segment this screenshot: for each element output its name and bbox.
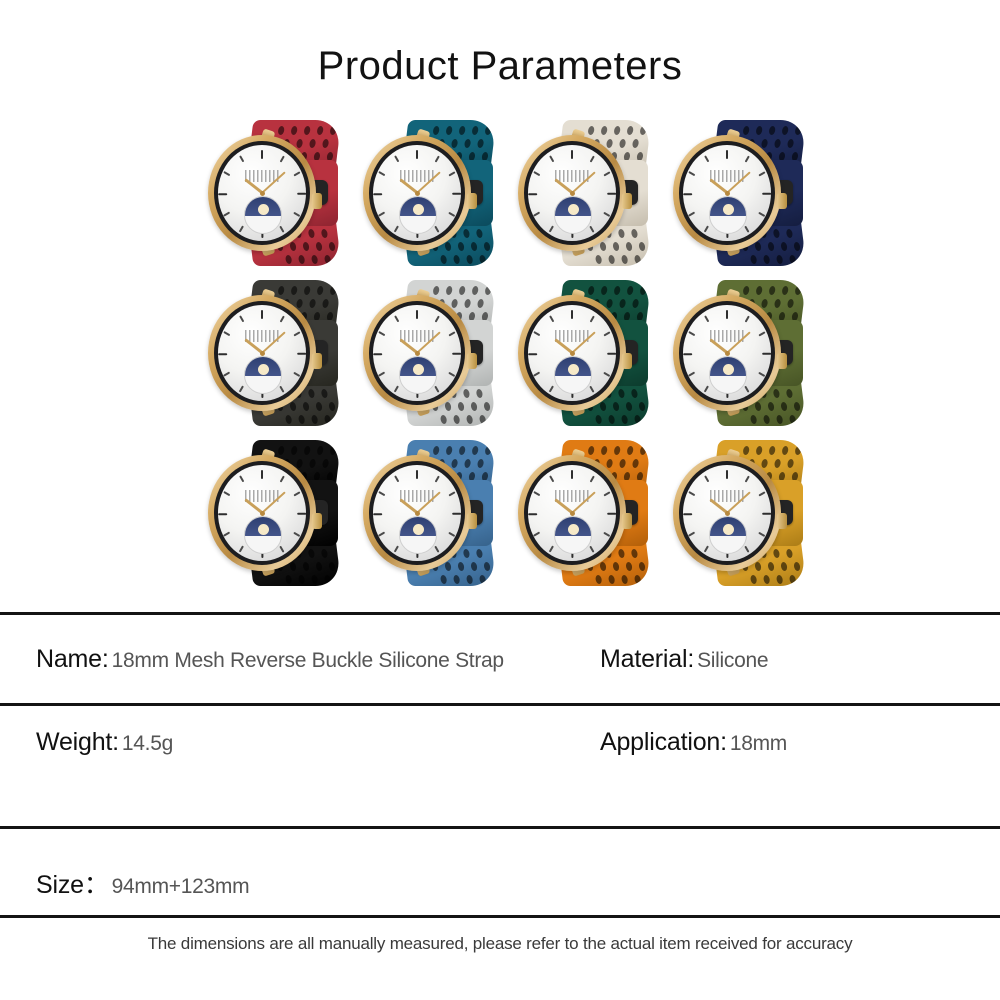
- moonphase-subdial: [554, 516, 592, 554]
- watch-dial: [218, 465, 306, 561]
- watch-image: [361, 278, 497, 428]
- watch-bezel: [679, 141, 775, 245]
- watch-case: [363, 135, 471, 251]
- gallery-row: [196, 432, 816, 592]
- moonphase-subdial: [244, 516, 282, 554]
- watch-case: [673, 455, 781, 571]
- crown-icon: [777, 513, 787, 529]
- watch-image: [206, 278, 342, 428]
- hand-cap: [260, 191, 265, 196]
- spec-row-weight-application: Weight: 14.5g Application: 18mm: [0, 706, 1000, 826]
- watch-dial: [218, 145, 306, 241]
- hand-cap: [415, 351, 420, 356]
- product-variant-orange[interactable]: [506, 432, 661, 592]
- crown-icon: [467, 513, 477, 529]
- crown-icon: [622, 193, 632, 209]
- watch-bezel: [524, 461, 620, 565]
- watch-bezel: [524, 301, 620, 405]
- crown-icon: [777, 193, 787, 209]
- hand-cap: [415, 511, 420, 516]
- size-label: Size：: [36, 865, 109, 901]
- watch-dial: [528, 145, 616, 241]
- field-name: Name: 18mm Mesh Reverse Buckle Silicone …: [36, 645, 504, 674]
- page-title: Product Parameters: [0, 46, 1000, 86]
- hand-cap: [570, 511, 575, 516]
- hand-cap: [570, 191, 575, 196]
- watch-image: [671, 118, 807, 268]
- watch-dial: [528, 465, 616, 561]
- watch-dial: [373, 465, 461, 561]
- moonphase-subdial: [554, 356, 592, 394]
- weight-label: Weight:: [36, 728, 119, 757]
- watch-bezel: [214, 461, 310, 565]
- watch-image: [516, 438, 652, 588]
- watch-image: [206, 438, 342, 588]
- watch-dial: [683, 305, 771, 401]
- moonphase-subdial: [709, 196, 747, 234]
- product-variant-mustard[interactable]: [661, 432, 816, 592]
- hand-cap: [260, 511, 265, 516]
- moonphase-subdial: [399, 516, 437, 554]
- watch-case: [363, 455, 471, 571]
- watch-dial: [373, 145, 461, 241]
- crown-icon: [622, 513, 632, 529]
- watch-bezel: [214, 301, 310, 405]
- hand-cap: [725, 191, 730, 196]
- watch-case: [518, 135, 626, 251]
- product-variant-black[interactable]: [196, 432, 351, 592]
- moonphase-subdial: [399, 196, 437, 234]
- product-variant-red[interactable]: [196, 112, 351, 272]
- name-label: Name:: [36, 645, 109, 674]
- watch-case: [673, 295, 781, 411]
- name-value: 18mm Mesh Reverse Buckle Silicone Strap: [112, 649, 504, 673]
- product-variant-teal[interactable]: [351, 112, 506, 272]
- crown-icon: [312, 193, 322, 209]
- spec-row-name-material: Name: 18mm Mesh Reverse Buckle Silicone …: [0, 615, 1000, 703]
- watch-image: [361, 118, 497, 268]
- crown-icon: [622, 353, 632, 369]
- moonphase-subdial: [709, 516, 747, 554]
- crown-icon: [777, 353, 787, 369]
- product-variant-denim-blue[interactable]: [351, 432, 506, 592]
- product-variant-dark-grey[interactable]: [196, 272, 351, 432]
- watch-image: [516, 118, 652, 268]
- field-weight: Weight: 14.5g: [36, 728, 173, 757]
- material-value: Silicone: [697, 649, 768, 673]
- hand-cap: [260, 351, 265, 356]
- watch-dial: [218, 305, 306, 401]
- application-value: 18mm: [730, 732, 787, 756]
- size-value: 94mm+123mm: [112, 875, 250, 899]
- field-material: Material: Silicone: [600, 645, 768, 674]
- moonphase-subdial: [554, 196, 592, 234]
- weight-value: 14.5g: [122, 732, 173, 756]
- hand-cap: [725, 351, 730, 356]
- crown-icon: [312, 513, 322, 529]
- spec-table: Name: 18mm Mesh Reverse Buckle Silicone …: [0, 612, 1000, 918]
- product-variant-beige[interactable]: [506, 112, 661, 272]
- field-size: Size： 94mm+123mm: [36, 865, 249, 901]
- watch-case: [363, 295, 471, 411]
- watch-image: [206, 118, 342, 268]
- watch-image: [671, 438, 807, 588]
- watch-case: [208, 455, 316, 571]
- watch-bezel: [679, 301, 775, 405]
- moonphase-subdial: [709, 356, 747, 394]
- watch-image: [516, 278, 652, 428]
- gallery-row: [196, 112, 816, 272]
- material-label: Material:: [600, 645, 694, 674]
- watch-case: [518, 295, 626, 411]
- hand-cap: [725, 511, 730, 516]
- measurement-disclaimer: The dimensions are all manually measured…: [0, 934, 1000, 954]
- crown-icon: [312, 353, 322, 369]
- moonphase-subdial: [244, 356, 282, 394]
- field-application: Application: 18mm: [600, 728, 787, 757]
- product-variant-army-green[interactable]: [661, 272, 816, 432]
- watch-bezel: [369, 141, 465, 245]
- watch-case: [208, 295, 316, 411]
- spec-row-size: Size： 94mm+123mm: [0, 829, 1000, 915]
- product-gallery: [196, 112, 816, 602]
- crown-icon: [467, 353, 477, 369]
- watch-bezel: [369, 461, 465, 565]
- watch-case: [208, 135, 316, 251]
- watch-case: [673, 135, 781, 251]
- hand-cap: [415, 191, 420, 196]
- watch-case: [518, 455, 626, 571]
- watch-image: [671, 278, 807, 428]
- hand-cap: [570, 351, 575, 356]
- application-label: Application:: [600, 728, 727, 757]
- divider-bottom: [0, 915, 1000, 918]
- product-variant-dark-green[interactable]: [506, 272, 661, 432]
- watch-image: [361, 438, 497, 588]
- watch-bezel: [369, 301, 465, 405]
- moonphase-subdial: [399, 356, 437, 394]
- watch-dial: [373, 305, 461, 401]
- product-variant-navy-blue[interactable]: [661, 112, 816, 272]
- watch-dial: [683, 465, 771, 561]
- gallery-row: [196, 272, 816, 432]
- moonphase-subdial: [244, 196, 282, 234]
- watch-bezel: [679, 461, 775, 565]
- product-variant-light-grey[interactable]: [351, 272, 506, 432]
- watch-dial: [528, 305, 616, 401]
- crown-icon: [467, 193, 477, 209]
- watch-dial: [683, 145, 771, 241]
- watch-bezel: [214, 141, 310, 245]
- watch-bezel: [524, 141, 620, 245]
